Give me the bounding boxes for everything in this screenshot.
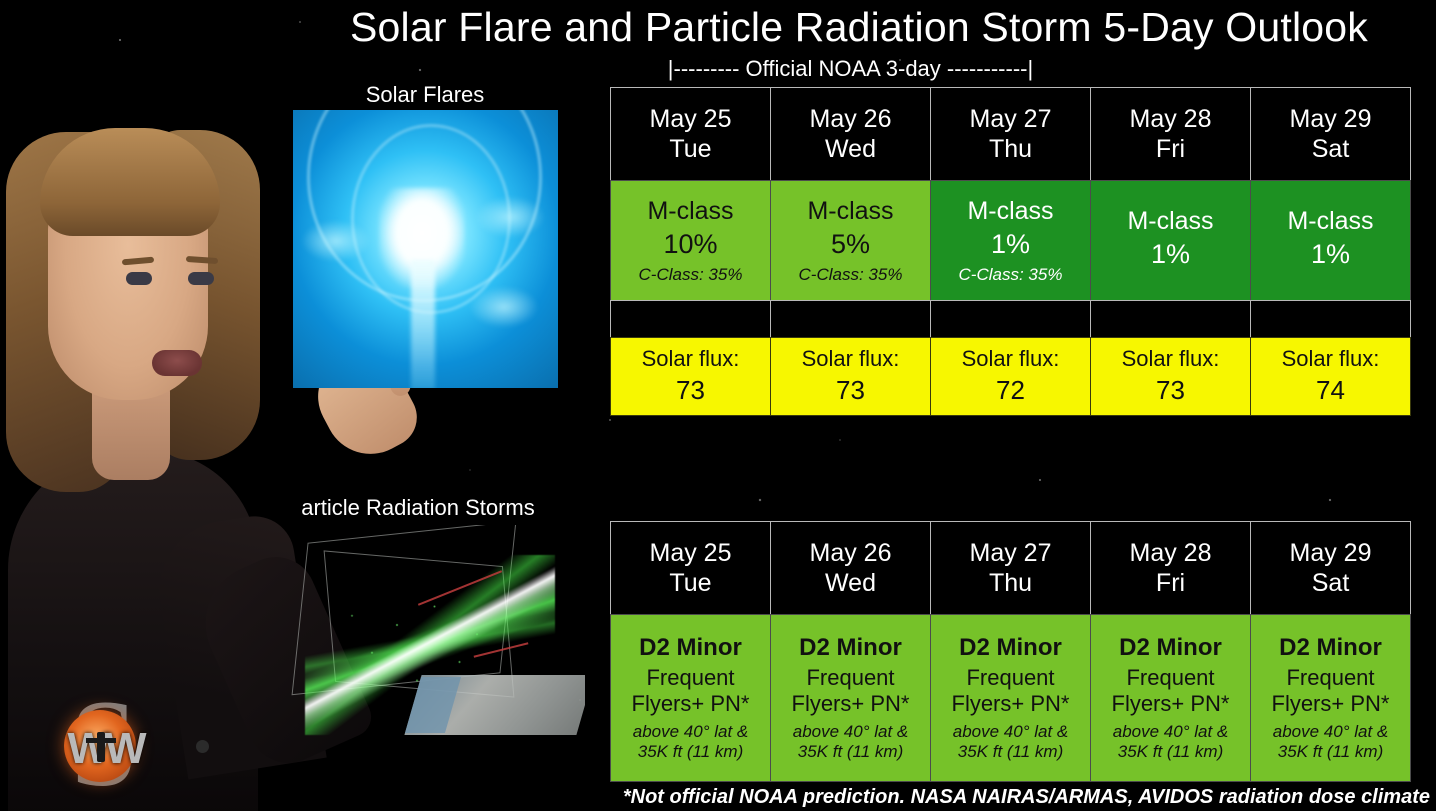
flare-beam	[411, 260, 435, 388]
mclass-probability-cell: M-class 1%	[1090, 180, 1251, 301]
day-weekday: Thu	[989, 569, 1032, 597]
storm-condition-line1: above 40° lat &	[1113, 722, 1229, 741]
solar-flux-cell: Solar flux: 73	[1090, 337, 1251, 416]
day-weekday: Thu	[989, 135, 1032, 163]
solar-flux-cell: Solar flux: 73	[610, 337, 771, 416]
storm-particle-specks	[297, 551, 547, 736]
cclass-percent: C-Class: 35%	[959, 265, 1063, 284]
day-weekday: Wed	[825, 135, 876, 163]
storm-condition-line2: 35K ft (11 km)	[798, 742, 904, 761]
active-region-number: 2825	[993, 319, 1029, 337]
broadcast-slide: Solar Flare and Particle Radiation Storm…	[0, 0, 1436, 811]
mclass-label: M-class	[807, 197, 893, 225]
storm-level: D2 Minor	[1279, 635, 1382, 662]
mclass-label: M-class	[647, 197, 733, 225]
logo-wordmark: WW	[32, 724, 178, 774]
flare-day-header: May 25 Tue	[610, 87, 771, 181]
footer-disclaimer: *Not official NOAA prediction. NASA NAIR…	[0, 786, 1436, 809]
presenter-brow-left	[122, 257, 154, 266]
flare-wisp	[475, 196, 545, 238]
mclass-percent: 1%	[991, 229, 1030, 259]
storm-audience-line2: Flyers+ PN*	[1112, 692, 1230, 717]
solar-flare-euv-image	[293, 110, 558, 388]
day-date: May 27	[970, 105, 1052, 133]
mclass-probability-cell: M-class 5% C-Class: 35%	[770, 180, 931, 301]
day-date: May 28	[1130, 105, 1212, 133]
particle-radiation-storms-label: article Radiation Storms	[258, 495, 578, 521]
day-weekday: Wed	[825, 569, 876, 597]
storm-condition-line2: 35K ft (11 km)	[958, 742, 1064, 761]
mclass-probability-cell: M-class 10% C-Class: 35%	[610, 180, 771, 301]
logo-figure-icon	[97, 732, 105, 762]
day-weekday: Tue	[669, 569, 711, 597]
mclass-percent: 5%	[831, 229, 870, 259]
day-date: May 29	[1290, 539, 1372, 567]
storm-level: D2 Minor	[1119, 635, 1222, 662]
solar-flux-label: Solar flux:	[802, 347, 900, 372]
solar-flux-label: Solar flux:	[962, 347, 1060, 372]
storm-audience-line1: Frequent	[1286, 666, 1374, 691]
flare-wisp	[469, 286, 539, 328]
solar-flares-label: Solar Flares	[300, 82, 550, 108]
storm-condition-line2: 35K ft (11 km)	[1278, 742, 1384, 761]
solar-flux-cell: Solar flux: 74	[1250, 337, 1411, 416]
day-date: May 26	[810, 539, 892, 567]
storm-condition-line1: above 40° lat &	[633, 722, 749, 741]
solar-flux-value: 73	[676, 376, 705, 405]
solar-flux-value: 74	[1316, 376, 1345, 405]
mclass-probability-cell: M-class 1% C-Class: 35%	[930, 180, 1091, 301]
storm-day-header: May 26 Wed	[770, 521, 931, 615]
day-date: May 29	[1290, 105, 1372, 133]
storm-level-cell: D2 Minor Frequent Flyers+ PN* above 40° …	[930, 614, 1091, 782]
active-region-cell: 2824 2825	[610, 300, 771, 338]
day-date: May 26	[810, 105, 892, 133]
solar-flux-cell: Solar flux: 72	[930, 337, 1091, 416]
storm-audience-line2: Flyers+ PN*	[1272, 692, 1390, 717]
storm-level-cell: D2 Minor Frequent Flyers+ PN* above 40° …	[1090, 614, 1251, 782]
day-date: May 25	[650, 539, 732, 567]
mclass-label: M-class	[1127, 207, 1213, 235]
solar-flux-label: Solar flux:	[1122, 347, 1220, 372]
flare-day-header: May 26 Wed	[770, 87, 931, 181]
storm-audience-line2: Flyers+ PN*	[632, 692, 750, 717]
storm-condition-line1: above 40° lat &	[793, 722, 909, 741]
storm-day-header: May 29 Sat	[1250, 521, 1411, 615]
storm-condition-line2: 35K ft (11 km)	[638, 742, 744, 761]
mclass-percent: 1%	[1311, 239, 1350, 269]
solar-flux-label: Solar flux:	[642, 347, 740, 372]
day-weekday: Fri	[1156, 135, 1185, 163]
storm-level-cell: D2 Minor Frequent Flyers+ PN* above 40° …	[1250, 614, 1411, 782]
solar-flare-forecast-table: May 25 Tue May 26 Wed May 27 Thu May 28 …	[611, 88, 1411, 416]
solar-flux-value: 73	[1156, 376, 1185, 405]
active-region-number: 2824	[1153, 301, 1189, 319]
solar-flux-value: 72	[996, 376, 1025, 405]
flare-day-header: May 28 Fri	[1090, 87, 1251, 181]
solar-flux-cell: Solar flux: 73	[770, 337, 931, 416]
storm-day-header: May 27 Thu	[930, 521, 1091, 615]
storm-day-header: May 25 Tue	[610, 521, 771, 615]
active-region-number: 2825	[833, 319, 869, 337]
particle-shower-simulation-image	[285, 525, 585, 760]
mclass-label: M-class	[1287, 207, 1373, 235]
active-region-number: 2825	[1153, 319, 1189, 337]
storm-condition-line1: above 40° lat &	[953, 722, 1069, 741]
storm-condition-line2: 35K ft (11 km)	[1118, 742, 1224, 761]
lapel-microphone	[196, 740, 209, 753]
day-weekday: Tue	[669, 135, 711, 163]
cclass-percent: C-Class: 35%	[799, 265, 903, 284]
solar-flux-value: 73	[836, 376, 865, 405]
presenter-brow-right	[186, 256, 218, 264]
storm-audience-line1: Frequent	[646, 666, 734, 691]
mclass-label: M-class	[967, 197, 1053, 225]
day-weekday: Sat	[1312, 135, 1350, 163]
storm-level: D2 Minor	[799, 635, 902, 662]
storm-audience-line1: Frequent	[1126, 666, 1214, 691]
solar-flux-label: Solar flux:	[1282, 347, 1380, 372]
active-region-cell: 2824 2825	[1250, 300, 1411, 338]
presenter-eye-left	[126, 272, 152, 285]
particle-radiation-storm-table: May 25 Tue May 26 Wed May 27 Thu May 28 …	[611, 522, 1411, 782]
active-region-cell: 2824 2825	[930, 300, 1091, 338]
storm-condition-line1: above 40° lat &	[1273, 722, 1389, 741]
day-weekday: Fri	[1156, 569, 1185, 597]
storm-level: D2 Minor	[639, 635, 742, 662]
mclass-probability-cell: M-class 1%	[1250, 180, 1411, 301]
noaa-3day-bracket-label: |--------- Official NOAA 3-day ---------…	[611, 56, 1090, 82]
active-region-number: 2824	[1313, 301, 1349, 319]
storm-audience-line2: Flyers+ PN*	[952, 692, 1070, 717]
mclass-percent: 10%	[663, 229, 717, 259]
mclass-percent: 1%	[1151, 239, 1190, 269]
storm-level-cell: D2 Minor Frequent Flyers+ PN* above 40° …	[610, 614, 771, 782]
active-region-cell: 2824 2825	[770, 300, 931, 338]
active-region-number: 2824	[993, 301, 1029, 319]
storm-level: D2 Minor	[959, 635, 1062, 662]
active-region-cell: 2824 2825	[1090, 300, 1251, 338]
active-region-number: 2825	[673, 319, 709, 337]
active-region-number: 2824	[673, 301, 709, 319]
day-weekday: Sat	[1312, 569, 1350, 597]
page-title: Solar Flare and Particle Radiation Storm…	[286, 4, 1432, 51]
day-date: May 25	[650, 105, 732, 133]
presenter-eye-right	[188, 272, 214, 285]
storm-day-header: May 28 Fri	[1090, 521, 1251, 615]
active-region-number: 2824	[833, 301, 869, 319]
storm-audience-line1: Frequent	[806, 666, 894, 691]
storm-audience-line2: Flyers+ PN*	[792, 692, 910, 717]
cclass-percent: C-Class: 35%	[639, 265, 743, 284]
storm-level-cell: D2 Minor Frequent Flyers+ PN* above 40° …	[770, 614, 931, 782]
active-region-number: 2825	[1313, 319, 1349, 337]
storm-audience-line1: Frequent	[966, 666, 1054, 691]
flare-wisp	[301, 220, 371, 262]
presenter-mouth	[152, 350, 202, 376]
flare-day-header: May 29 Sat	[1250, 87, 1411, 181]
day-date: May 27	[970, 539, 1052, 567]
day-date: May 28	[1130, 539, 1212, 567]
flare-day-header: May 27 Thu	[930, 87, 1091, 181]
